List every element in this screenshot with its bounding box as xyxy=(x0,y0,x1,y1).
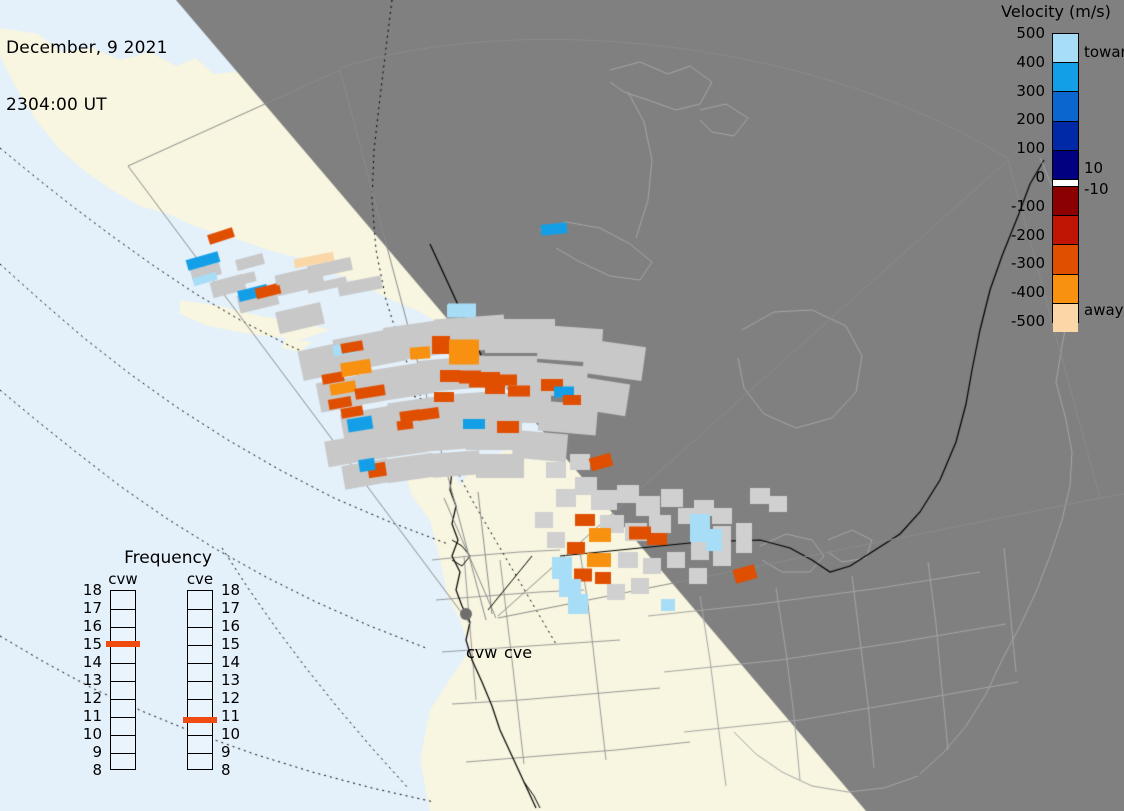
colorbar-segment-toward-1 xyxy=(1053,62,1078,91)
colorbar-zero-gap xyxy=(1053,179,1078,187)
frequency-divider xyxy=(188,663,212,664)
frequency-marker-cve xyxy=(183,717,217,723)
colorbar-segment-toward-3 xyxy=(1053,121,1078,150)
colorbar-segment-toward-4 xyxy=(1053,150,1078,179)
frequency-tick-cvw-10: 10 xyxy=(80,727,102,742)
frequency-divider xyxy=(188,753,212,754)
frequency-divider xyxy=(111,627,135,628)
colorbar-tick-neg200: -200 xyxy=(979,228,1045,243)
frequency-tick-cve-17: 17 xyxy=(221,601,243,616)
frequency-divider xyxy=(188,735,212,736)
frequency-tick-cvw-9: 9 xyxy=(80,745,102,760)
colorbar-tick-neg300: -300 xyxy=(979,256,1045,271)
frequency-tick-cvw-14: 14 xyxy=(80,655,102,670)
timestamp: December, 9 2021 2304:00 UT xyxy=(6,1,168,153)
frequency-legend-title: Frequency xyxy=(92,548,244,568)
frequency-tick-cvw-12: 12 xyxy=(80,691,102,706)
colorbar-segment-away-1 xyxy=(1053,215,1078,244)
frequency-tick-cve-14: 14 xyxy=(221,655,243,670)
colorbar-toward-label: toward xyxy=(1084,45,1124,60)
frequency-tick-cve-9: 9 xyxy=(221,745,243,760)
frequency-tick-cve-13: 13 xyxy=(221,673,243,688)
frequency-legend: Frequency cvw18171615141312111098cve1817… xyxy=(92,548,244,794)
colorbar-segment-toward-0 xyxy=(1053,34,1078,62)
frequency-divider xyxy=(111,735,135,736)
frequency-tick-cve-11: 11 xyxy=(221,709,243,724)
frequency-divider xyxy=(111,663,135,664)
colorbar-tick-neg100: -100 xyxy=(979,199,1045,214)
radar-site-label-cvw[interactable]: cvw xyxy=(466,643,497,662)
colorbar-strip xyxy=(1052,33,1079,323)
frequency-divider xyxy=(111,681,135,682)
frequency-marker-cvw xyxy=(106,641,140,647)
frequency-divider xyxy=(111,717,135,718)
frequency-column-label-cve: cve xyxy=(177,570,223,588)
colorbar-segment-away-4 xyxy=(1053,303,1078,332)
timestamp-time: 2304:00 UT xyxy=(6,96,168,115)
frequency-tick-cvw-13: 13 xyxy=(80,673,102,688)
screenshot-root: December, 9 2021 2304:00 UT Velocity (m/… xyxy=(0,0,1124,811)
colorbar-segment-toward-2 xyxy=(1053,91,1078,120)
velocity-colorbar-panel: Velocity (m/s) 5004003002001000-100-200-… xyxy=(980,0,1124,340)
colorbar-segment-away-3 xyxy=(1053,274,1078,303)
timestamp-date: December, 9 2021 xyxy=(6,39,168,58)
colorbar-segment-away-2 xyxy=(1053,244,1078,273)
colorbar-tick-100: 100 xyxy=(979,141,1045,156)
frequency-divider xyxy=(111,753,135,754)
colorbar-tick-0: 0 xyxy=(979,170,1045,185)
colorbar-tick-300: 300 xyxy=(979,84,1045,99)
colorbar-away-label: away xyxy=(1084,303,1124,318)
frequency-scale-cvw[interactable] xyxy=(110,590,136,770)
colorbar-segment-away-0 xyxy=(1053,187,1078,215)
colorbar-tick-neg500: -500 xyxy=(979,314,1045,329)
frequency-tick-cve-12: 12 xyxy=(221,691,243,706)
frequency-tick-cve-16: 16 xyxy=(221,619,243,634)
frequency-divider xyxy=(188,609,212,610)
frequency-divider xyxy=(188,699,212,700)
frequency-tick-cvw-15: 15 xyxy=(80,637,102,652)
frequency-divider xyxy=(111,699,135,700)
frequency-tick-cve-8: 8 xyxy=(221,763,243,778)
colorbar-tick-400: 400 xyxy=(979,55,1045,70)
colorbar-tick-200: 200 xyxy=(979,112,1045,127)
frequency-tick-cvw-8: 8 xyxy=(80,763,102,778)
frequency-tick-cvw-18: 18 xyxy=(80,583,102,598)
frequency-column-label-cvw: cvw xyxy=(100,570,146,588)
colorbar-tick-500: 500 xyxy=(979,26,1045,41)
radar-site-label-cve[interactable]: cve xyxy=(504,643,532,662)
frequency-tick-cvw-17: 17 xyxy=(80,601,102,616)
frequency-tick-cve-15: 15 xyxy=(221,637,243,652)
colorbar-tick-labels: 5004003002001000-100-200-300-400-500 xyxy=(975,25,1045,325)
frequency-tick-cvw-16: 16 xyxy=(80,619,102,634)
colorbar-tick-neg400: -400 xyxy=(979,285,1045,300)
frequency-tick-cve-18: 18 xyxy=(221,583,243,598)
colorbar-lower-gap-label: -10 xyxy=(1084,182,1109,197)
frequency-divider xyxy=(188,681,212,682)
frequency-divider xyxy=(188,627,212,628)
colorbar-title: Velocity (m/s) xyxy=(988,2,1124,21)
frequency-tick-cvw-11: 11 xyxy=(80,709,102,724)
frequency-divider xyxy=(188,645,212,646)
frequency-tick-cve-10: 10 xyxy=(221,727,243,742)
frequency-divider xyxy=(111,609,135,610)
colorbar-upper-gap-label: 10 xyxy=(1084,161,1103,176)
frequency-scale-cve[interactable] xyxy=(187,590,213,770)
